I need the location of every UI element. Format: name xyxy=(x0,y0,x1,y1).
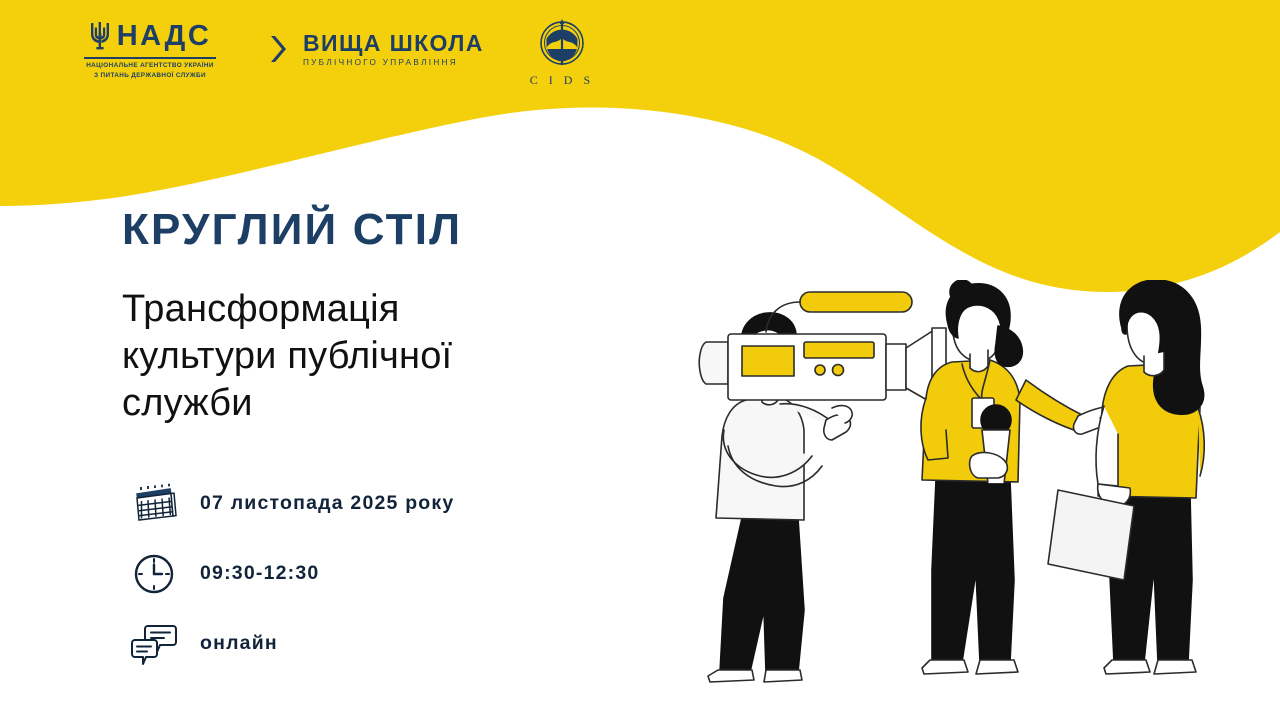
nads-subtitle: НАЦІОНАЛЬНЕ АГЕНТСТВО УКРАЇНИ З ПИТАНЬ Д… xyxy=(86,61,214,80)
page-title: КРУГЛИЙ СТІЛ xyxy=(122,208,642,252)
reporter-figure xyxy=(921,280,1117,674)
nads-divider xyxy=(84,57,216,59)
ukraine-trident-icon xyxy=(89,20,111,52)
event-details-list: 07 листопада 2025 року 09:30-12:30 xyxy=(130,480,454,668)
vyshcha-shkola-logo: ВИЩА ШКОЛА ПУБЛІЧНОГО УПРАВЛІННЯ xyxy=(262,29,484,71)
interviewee-figure xyxy=(1048,280,1204,674)
clock-icon xyxy=(130,550,178,598)
press-interview-illustration xyxy=(680,280,1240,700)
nads-wordmark: НАДС xyxy=(117,22,212,51)
cids-label: C I D S xyxy=(530,74,594,86)
content-left-column: КРУГЛИЙ СТІЛ Трансформація культури публ… xyxy=(122,208,642,427)
detail-time-text: 09:30-12:30 xyxy=(200,564,319,584)
cids-logo: C I D S xyxy=(530,15,594,86)
detail-date-text: 07 листопада 2025 року xyxy=(200,494,454,514)
page-subtitle: Трансформація культури публічної служби xyxy=(122,286,642,427)
detail-date-row: 07 листопада 2025 року xyxy=(130,480,454,528)
vyshcha-shkola-subtitle: ПУБЛІЧНОГО УПРАВЛІННЯ xyxy=(303,59,484,67)
chat-bubbles-icon xyxy=(130,620,178,668)
poster-canvas: НАДС НАЦІОНАЛЬНЕ АГЕНТСТВО УКРАЇНИ З ПИТ… xyxy=(0,0,1280,720)
detail-format-row: онлайн xyxy=(130,620,454,668)
detail-time-row: 09:30-12:30 xyxy=(130,550,454,598)
nads-logo: НАДС НАЦІОНАЛЬНЕ АГЕНТСТВО УКРАЇНИ З ПИТ… xyxy=(84,20,216,80)
sword-shield-emblem-icon xyxy=(534,15,590,71)
logo-bar: НАДС НАЦІОНАЛЬНЕ АГЕНТСТВО УКРАЇНИ З ПИТ… xyxy=(0,0,1280,100)
vyshcha-shkola-main: ВИЩА ШКОЛА xyxy=(303,32,484,55)
video-camera xyxy=(699,292,946,406)
chevron-swoosh-icon xyxy=(262,29,296,71)
calendar-icon xyxy=(130,480,178,528)
detail-format-text: онлайн xyxy=(200,634,278,654)
